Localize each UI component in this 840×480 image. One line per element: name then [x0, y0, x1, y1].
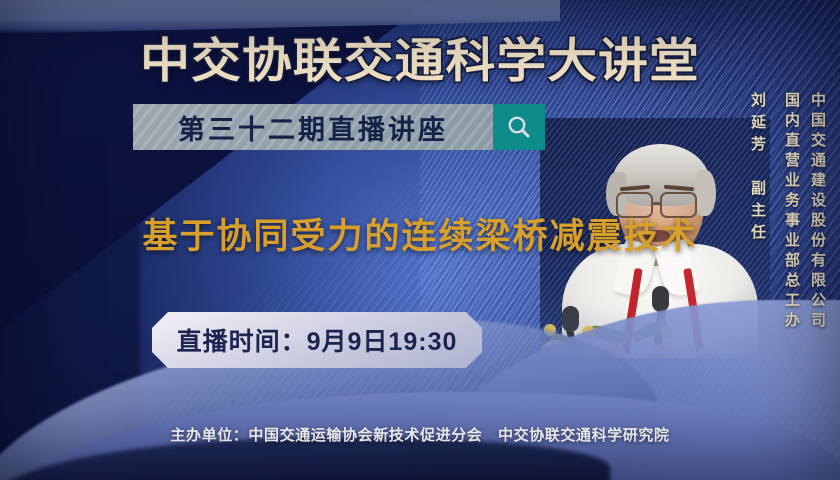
episode-banner-background: 第三十二期直播讲座 [133, 104, 493, 150]
speaker-name-title: 刘延芳 副主任 [742, 92, 768, 332]
organizer-footer: 主办单位：中国交通运输协会新技术促进分会 中交协联交通科学研究院 [0, 424, 840, 445]
episode-banner: 第三十二期直播讲座 [133, 104, 545, 150]
live-time-badge: 直播时间：9月9日19:30 [152, 312, 482, 368]
episode-label: 第三十二期直播讲座 [178, 108, 448, 147]
live-time-label: 直播时间：9月9日19:30 [177, 322, 458, 358]
webinar-poster: 中交协联交通科学大讲堂 第三十二期直播讲座 基于协同受力的连续梁桥减震技术 直播… [0, 0, 840, 480]
speaker-company: 中国交通建设股份有限公司 [802, 92, 828, 332]
page-title: 中交协联交通科学大讲堂 [0, 22, 840, 91]
speaker-department: 国内直营业务事业部总工办 [776, 92, 802, 332]
topic-title: 基于协同受力的连续梁桥减震技术 [0, 208, 840, 259]
photo-microphone-head-1 [652, 286, 669, 312]
search-icon [506, 114, 532, 140]
search-icon-box[interactable] [493, 104, 545, 150]
speaker-credits: 刘延芳 副主任 国内直营业务事业部总工办 中国交通建设股份有限公司 [742, 92, 828, 332]
photo-glasses-bridge [652, 202, 662, 205]
